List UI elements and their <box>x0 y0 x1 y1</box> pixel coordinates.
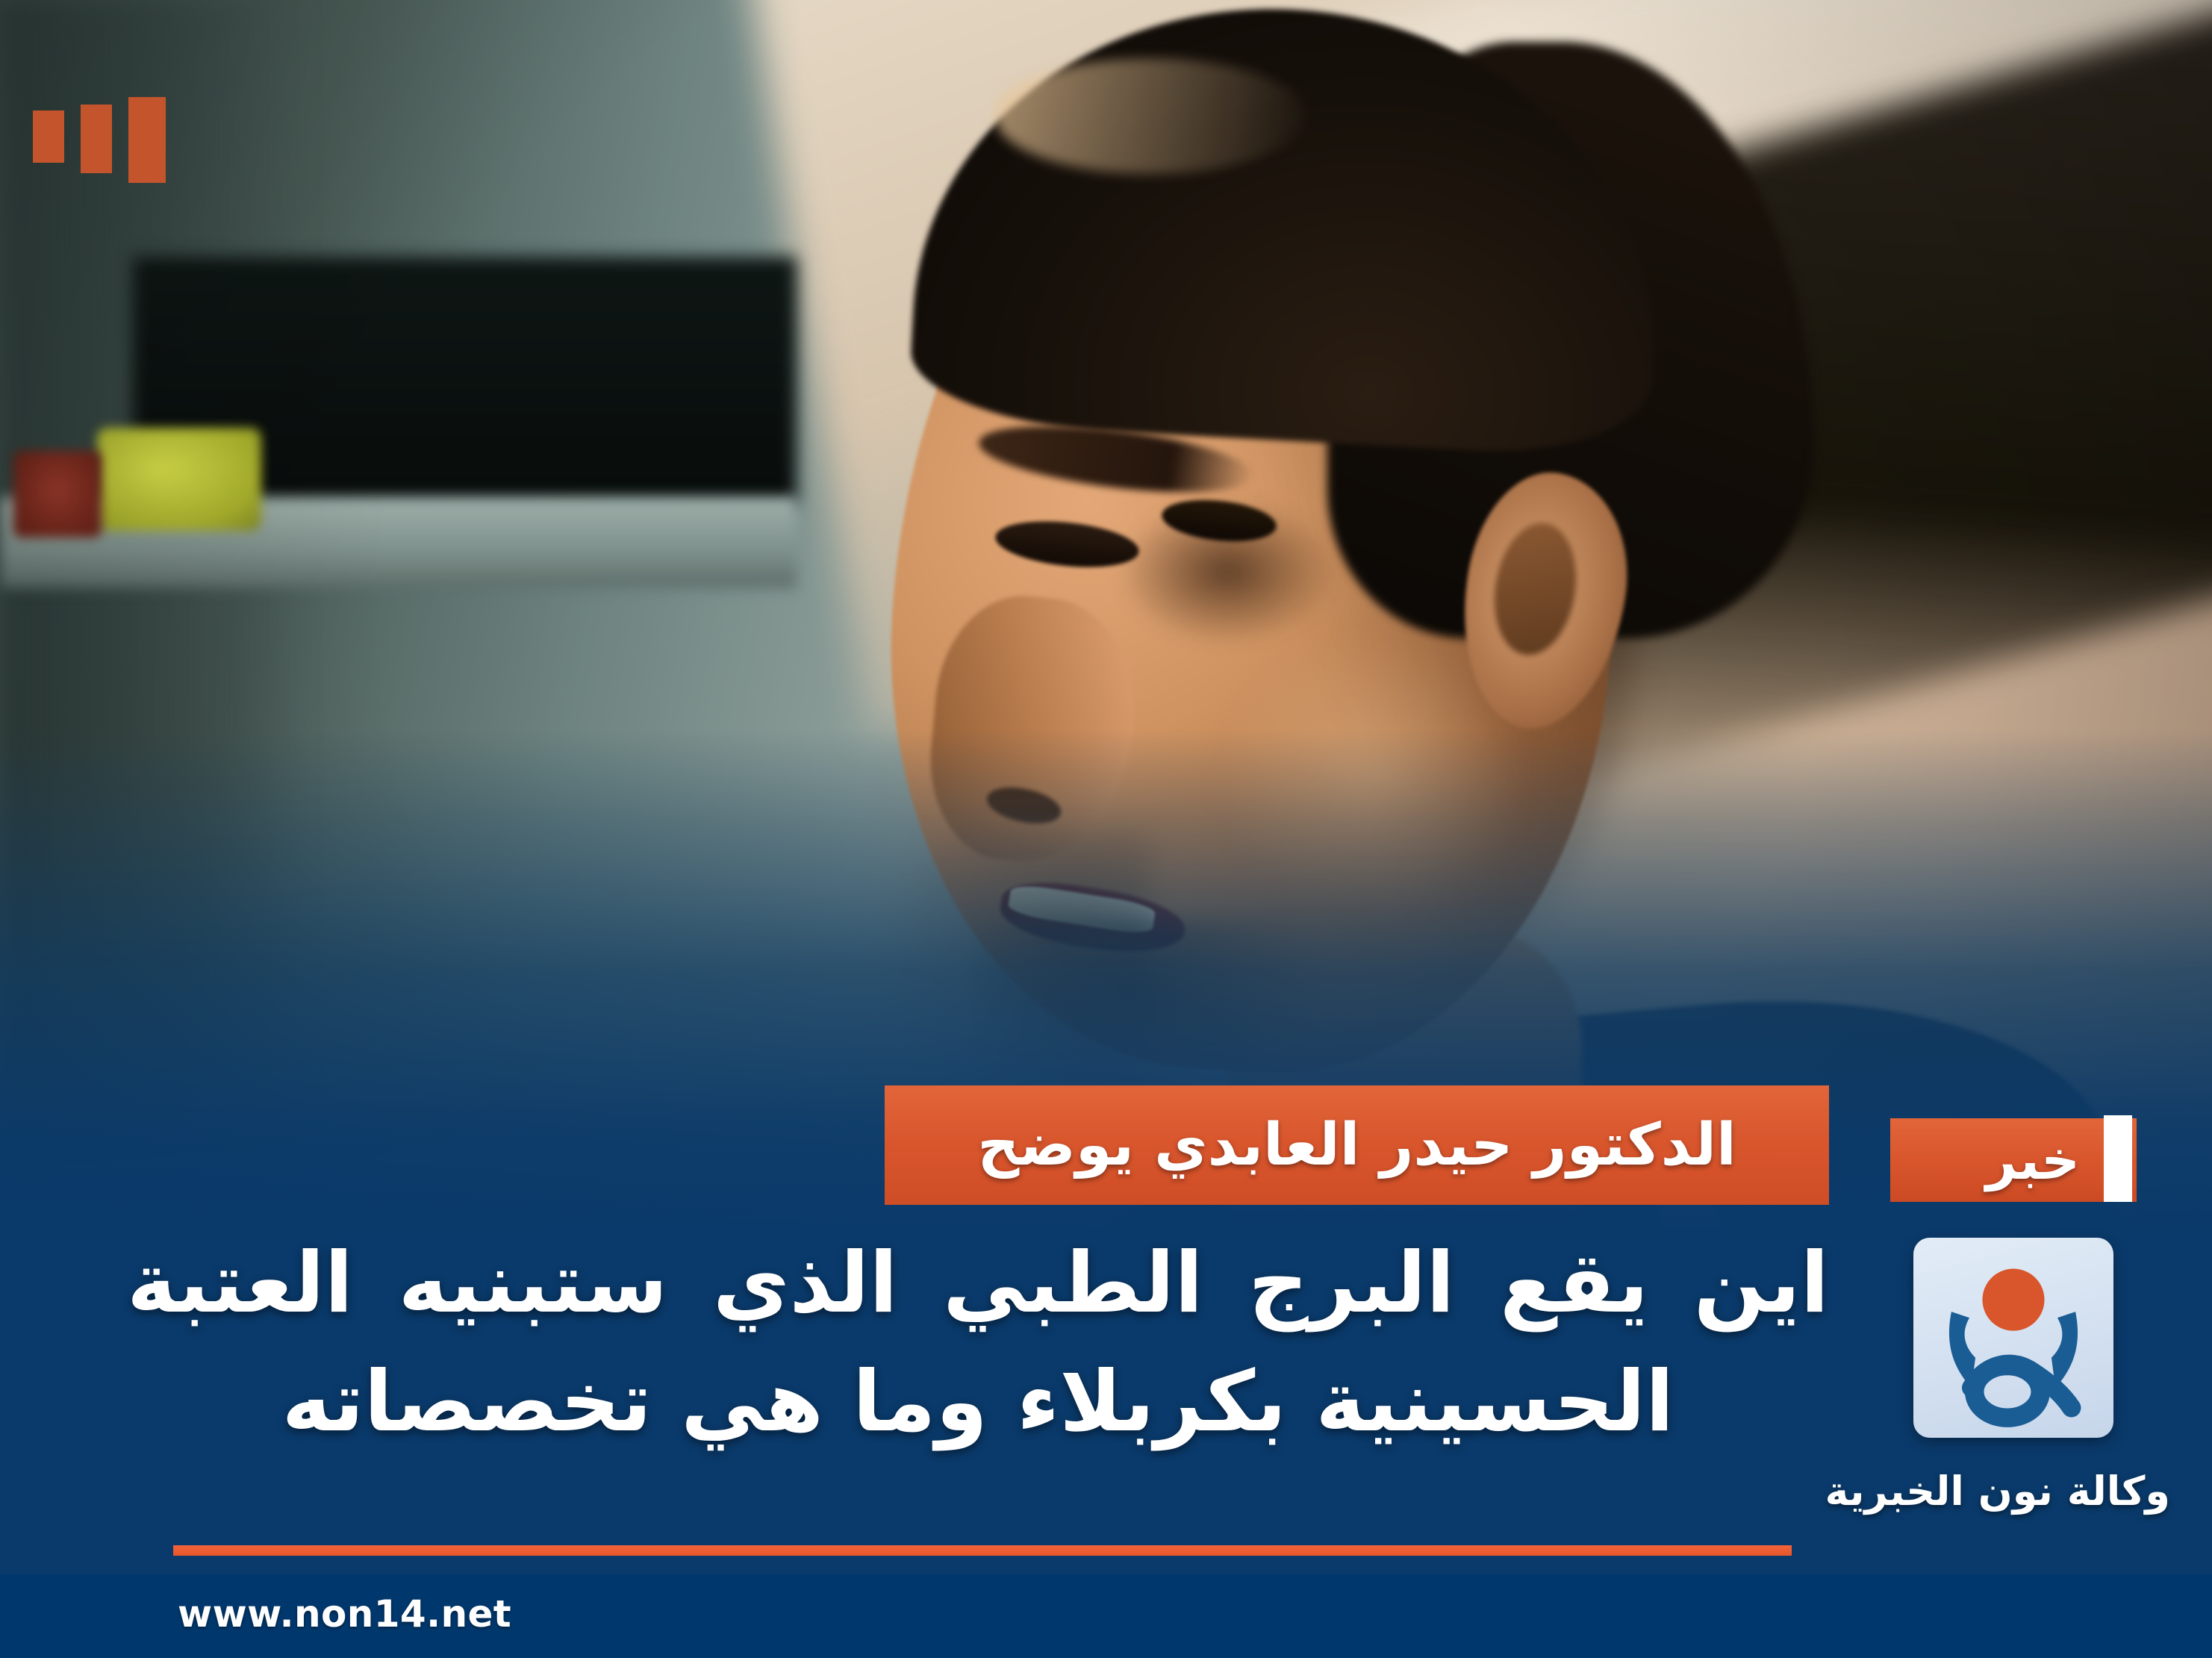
headline-line-1: اين يقع البرج الطبي الذي ستبنيه العتبة <box>127 1224 1829 1343</box>
site-url[interactable]: www.non14.net <box>178 1592 511 1636</box>
watermark-bar-1 <box>128 97 166 183</box>
agency-name: وكالة نون الخبرية <box>1857 1468 2170 1515</box>
news-badge-white-tab <box>2104 1115 2132 1202</box>
orange-divider <box>173 1545 1792 1556</box>
kicker-text: الدكتور حيدر العابدي يوضح <box>977 1112 1736 1179</box>
watermark-bar-2 <box>81 105 112 173</box>
headline: اين يقع البرج الطبي الذي ستبنيه العتبة ا… <box>127 1224 1829 1462</box>
three-bars-watermark-icon <box>33 97 166 183</box>
news-badge-label: خبر <box>1947 1129 2080 1191</box>
headline-line-2: الحسينية بكربلاء وما هي تخصصاته <box>127 1343 1829 1462</box>
brand-column: خبر وكالة نون الخبرية <box>1857 1118 2170 1515</box>
kicker-ribbon: الدكتور حيدر العابدي يوضح <box>885 1085 1829 1205</box>
watermark-bar-3 <box>33 110 64 163</box>
news-badge: خبر <box>1890 1118 2137 1202</box>
noon-agency-logo-icon <box>1913 1238 2113 1438</box>
news-card: الدكتور حيدر العابدي يوضح اين يقع البرج … <box>0 0 2212 1658</box>
